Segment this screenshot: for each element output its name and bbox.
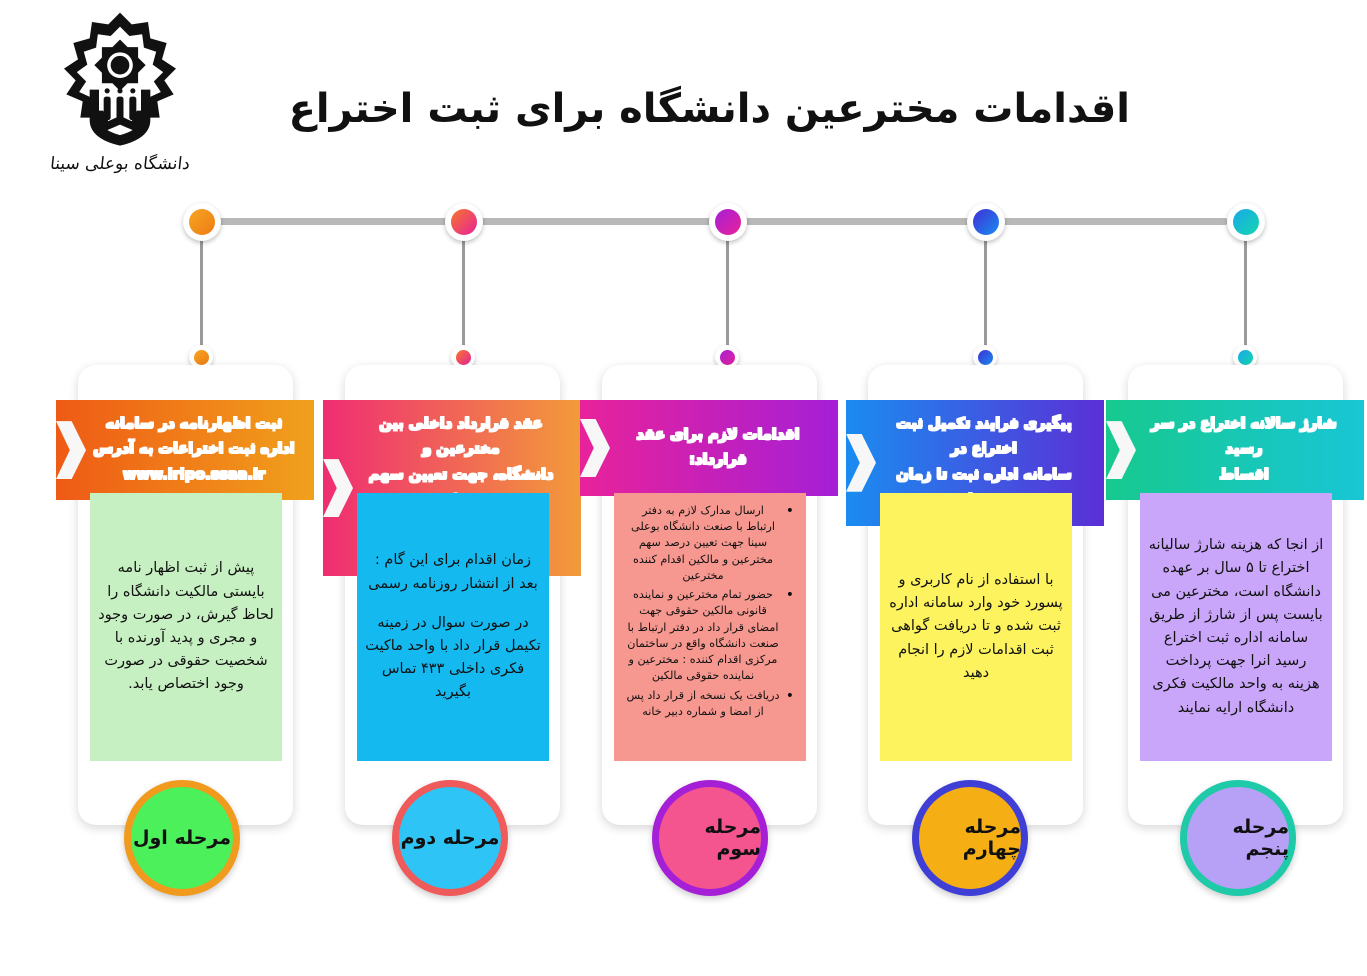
step-banner-line: عقد قرارداد داخلی بین مخترعین و <box>357 412 565 463</box>
timeline-node-2[interactable] <box>445 203 483 241</box>
step-body-paragraph: زمان اقدام برای این گام : بعد از انتشار … <box>365 549 541 595</box>
bu-ali-sina-emblem-icon <box>50 8 190 148</box>
university-logo: دانشگاه بوعلی سینا <box>30 8 210 203</box>
step-body-4: با استفاده از نام کاربری و پسورد خود وار… <box>880 493 1072 761</box>
timeline-rail <box>185 218 1228 225</box>
step-body-5: از انجا که هزینه شارژ سالیانه اختراع تا … <box>1140 493 1332 761</box>
step-banner-line: شارژ سالانه اختراع در سر رسید <box>1140 412 1348 463</box>
timeline-subnode-dot-icon <box>194 350 209 365</box>
connector-line-1 <box>200 236 203 358</box>
step-bullet-list: ارسال مدارک لازم به دفتر ارتباط با صنعت … <box>622 503 798 720</box>
step-banner-line: ثبت اظهارنامه در سامانه <box>106 412 283 437</box>
step-body-3: ارسال مدارک لازم به دفتر ارتباط با صنعت … <box>614 493 806 761</box>
step-badge-3[interactable]: مرحله سوم <box>652 780 768 896</box>
step-banner-line: اقدامات لازم برای عقد قرارداد: <box>614 423 822 474</box>
logo-caption: دانشگاه بوعلی سینا <box>29 154 211 174</box>
step-banner-line: پیگیری فرایند تکمیل ثبت اختراع در <box>880 412 1088 463</box>
infographic-page: دانشگاه بوعلی سینا اقدامات مخترعین دانشگ… <box>0 0 1367 976</box>
step-body-1: پیش از ثبت اظهار نامه بایستی مالکیت دانش… <box>90 493 282 761</box>
step-banner-line: اداره ثبت اختراعات به آدرس <box>93 437 294 462</box>
step-banner-line: اقساط <box>1219 463 1269 488</box>
step-body-paragraph: پیش از ثبت اظهار نامه بایستی مالکیت دانش… <box>98 557 274 696</box>
timeline-subnode-dot-icon <box>978 350 993 365</box>
timeline-node-dot-icon <box>451 209 477 235</box>
timeline-node-dot-icon <box>715 209 741 235</box>
timeline-subnode-dot-icon <box>456 350 471 365</box>
step-badge-2[interactable]: مرحله دوم <box>392 780 508 896</box>
step-banner-5: شارژ سالانه اختراع در سر رسیداقساط <box>1106 400 1364 500</box>
timeline-node-4[interactable] <box>967 203 1005 241</box>
connector-line-3 <box>726 236 729 358</box>
step-body-paragraph: با استفاده از نام کاربری و پسورد خود وار… <box>888 569 1064 685</box>
timeline-node-1[interactable] <box>183 203 221 241</box>
step-card-3[interactable]: اقدامات لازم برای عقد قرارداد:ارسال مدار… <box>602 365 817 825</box>
step-banner-1: ثبت اظهارنامه در سامانهاداره ثبت اختراعا… <box>56 400 314 500</box>
list-item: دریافت یک نسخه از قرار داد پس از امضا و … <box>626 688 794 720</box>
step-banner-line: سامانه اداره ثبت تا زمان <box>896 463 1072 488</box>
page-title: اقدامات مخترعین دانشگاه برای ثبت اختراع <box>300 86 1130 132</box>
timeline-node-dot-icon <box>189 209 215 235</box>
chevron-right-icon <box>323 459 353 517</box>
timeline-node-dot-icon <box>1233 209 1259 235</box>
step-badge-label: مرحله دوم <box>401 827 500 849</box>
step-badge-label: مرحله سوم <box>659 816 761 860</box>
connector-line-5 <box>1244 236 1247 358</box>
timeline-subnode-dot-icon <box>1238 350 1253 365</box>
step-body-2: زمان اقدام برای این گام : بعد از انتشار … <box>357 493 549 761</box>
step-card-5[interactable]: شارژ سالانه اختراع در سر رسیداقساطاز انج… <box>1128 365 1343 825</box>
timeline-subnode-dot-icon <box>720 350 735 365</box>
step-badge-label: مرحله پنجم <box>1187 816 1289 860</box>
chevron-right-icon <box>1106 421 1136 479</box>
list-item: حضور تمام مخترعین و نماینده قانونی مالکی… <box>626 587 794 684</box>
step-body-paragraph: در صورت سوال در زمینه تکیمل قرار داد با … <box>365 612 541 705</box>
step-badge-1[interactable]: مرحله اول <box>124 780 240 896</box>
step-badge-5[interactable]: مرحله پنجم <box>1180 780 1296 896</box>
connector-line-4 <box>984 236 987 358</box>
chevron-right-icon <box>56 421 86 479</box>
connector-line-2 <box>462 236 465 358</box>
step-badge-label: مرحله اول <box>133 827 231 849</box>
step-badge-label: مرحله چهارم <box>919 816 1021 860</box>
timeline-node-5[interactable] <box>1227 203 1265 241</box>
chevron-right-icon <box>846 434 876 492</box>
timeline-node-3[interactable] <box>709 203 747 241</box>
step-banner-3: اقدامات لازم برای عقد قرارداد: <box>580 400 838 496</box>
timeline-node-dot-icon <box>973 209 999 235</box>
step-card-4[interactable]: پیگیری فرایند تکمیل ثبت اختراع درسامانه … <box>868 365 1083 825</box>
step-card-1[interactable]: ثبت اظهارنامه در سامانهاداره ثبت اختراعا… <box>78 365 293 825</box>
step-body-paragraph: از انجا که هزینه شارژ سالیانه اختراع تا … <box>1148 534 1324 720</box>
step-banner-line: www.iripo.ssaa.ir <box>123 463 265 488</box>
chevron-right-icon <box>580 419 610 477</box>
step-badge-4[interactable]: مرحله چهارم <box>912 780 1028 896</box>
list-item: ارسال مدارک لازم به دفتر ارتباط با صنعت … <box>626 503 794 584</box>
step-card-2[interactable]: عقد قرارداد داخلی بین مخترعین ودانشگاه، … <box>345 365 560 825</box>
